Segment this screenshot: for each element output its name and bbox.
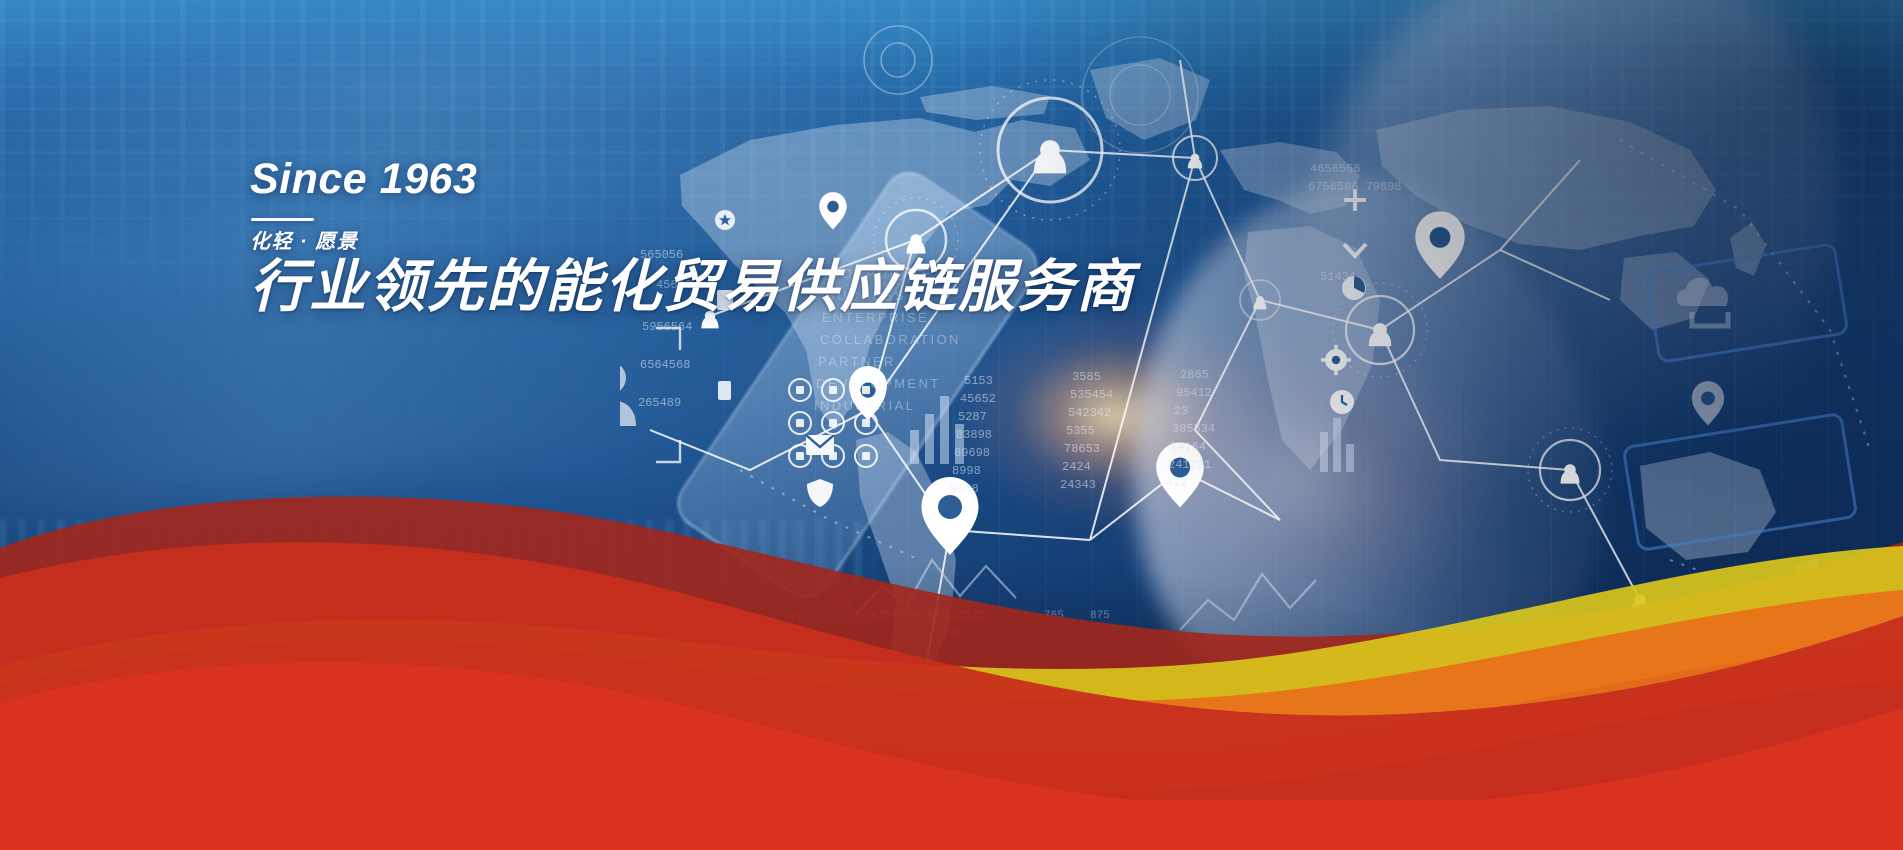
color-wave-band bbox=[0, 430, 1903, 850]
divider-rule bbox=[251, 218, 314, 221]
subtitle-text: 化轻 · 愿景 bbox=[250, 230, 1050, 254]
headline-block: Since 1963 化轻 · 愿景 行业领先的能化贸易供应链服务商 bbox=[250, 158, 1050, 320]
hero-banner: CORPORATE SUCCESS ENTERPRISE COLLABORATI… bbox=[0, 0, 1903, 850]
eyebrow-text: Since 1963 bbox=[250, 158, 1050, 201]
page-title: 行业领先的能化贸易供应链服务商 bbox=[250, 256, 1050, 320]
wave-base bbox=[0, 800, 1903, 850]
